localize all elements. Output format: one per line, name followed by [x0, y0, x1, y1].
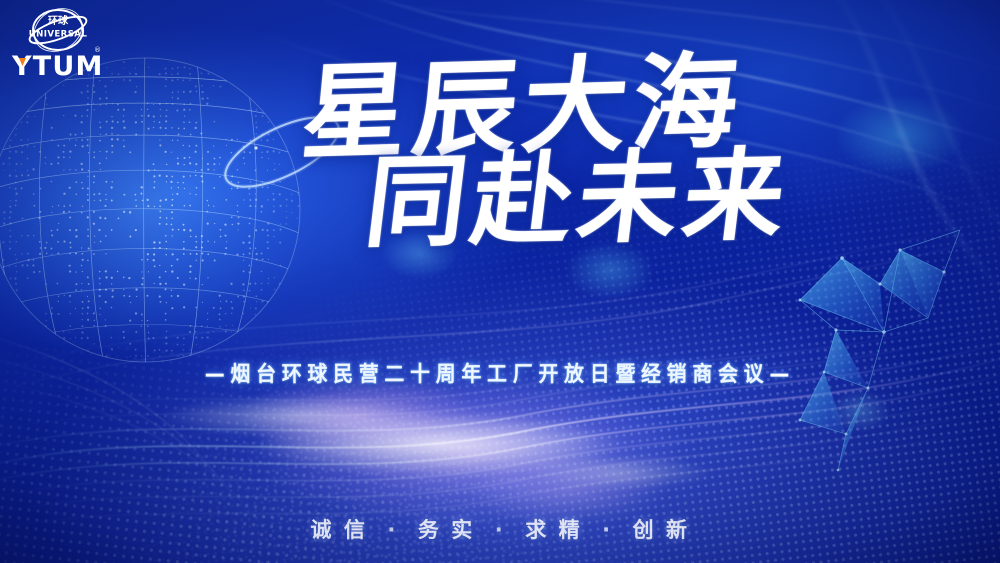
low-poly-runner: [0, 0, 1000, 563]
flowing-wave-ribbons: [0, 0, 1000, 563]
logo-globe-cn: 环球: [48, 14, 69, 27]
title-line-2: 同赴未来: [0, 142, 1000, 257]
logo-wordmark: YTUM: [11, 51, 104, 80]
white-light-band: [0, 0, 1000, 563]
poster-canvas: 环球 UNIVERSAL ® YTUM 星辰大海 同赴未来 —烟台环球民营二十周…: [0, 0, 1000, 563]
company-tagline: 诚 信·务 实·求 精·创 新: [0, 514, 1000, 544]
logo-globe-en: UNIVERSAL: [29, 30, 88, 40]
tagline-separator: ·: [495, 518, 506, 542]
ytum-universal-logo[interactable]: 环球 UNIVERSAL ® YTUM: [8, 6, 132, 80]
light-streaks-upper: [0, 0, 1000, 563]
ytum-wordmark: YTUM: [11, 51, 104, 80]
cyan-accent-glows: [0, 0, 1000, 563]
event-subtitle: —烟台环球民营二十周年工厂开放日暨经销商会议—: [30, 358, 970, 388]
orbital-ring: [216, 103, 348, 201]
magenta-glow: [0, 0, 1000, 563]
tagline-separator: ·: [387, 518, 398, 542]
halftone-dots-secondary: [0, 0, 1000, 563]
tagline-word: 诚 信: [311, 514, 368, 544]
background-gradient: [0, 0, 1000, 563]
wireframe-globe: [0, 0, 1000, 563]
title-line-1: 星辰大海: [0, 44, 1000, 172]
tagline-separator: ·: [602, 518, 613, 542]
vignette-overlay: [0, 0, 1000, 563]
tagline-word: 求 精: [525, 514, 582, 544]
tagline-word: 务 实: [418, 514, 475, 544]
halftone-dots-main: [0, 0, 1000, 563]
tagline-word: 创 新: [633, 514, 690, 544]
main-title: 星辰大海 同赴未来: [0, 58, 1000, 248]
